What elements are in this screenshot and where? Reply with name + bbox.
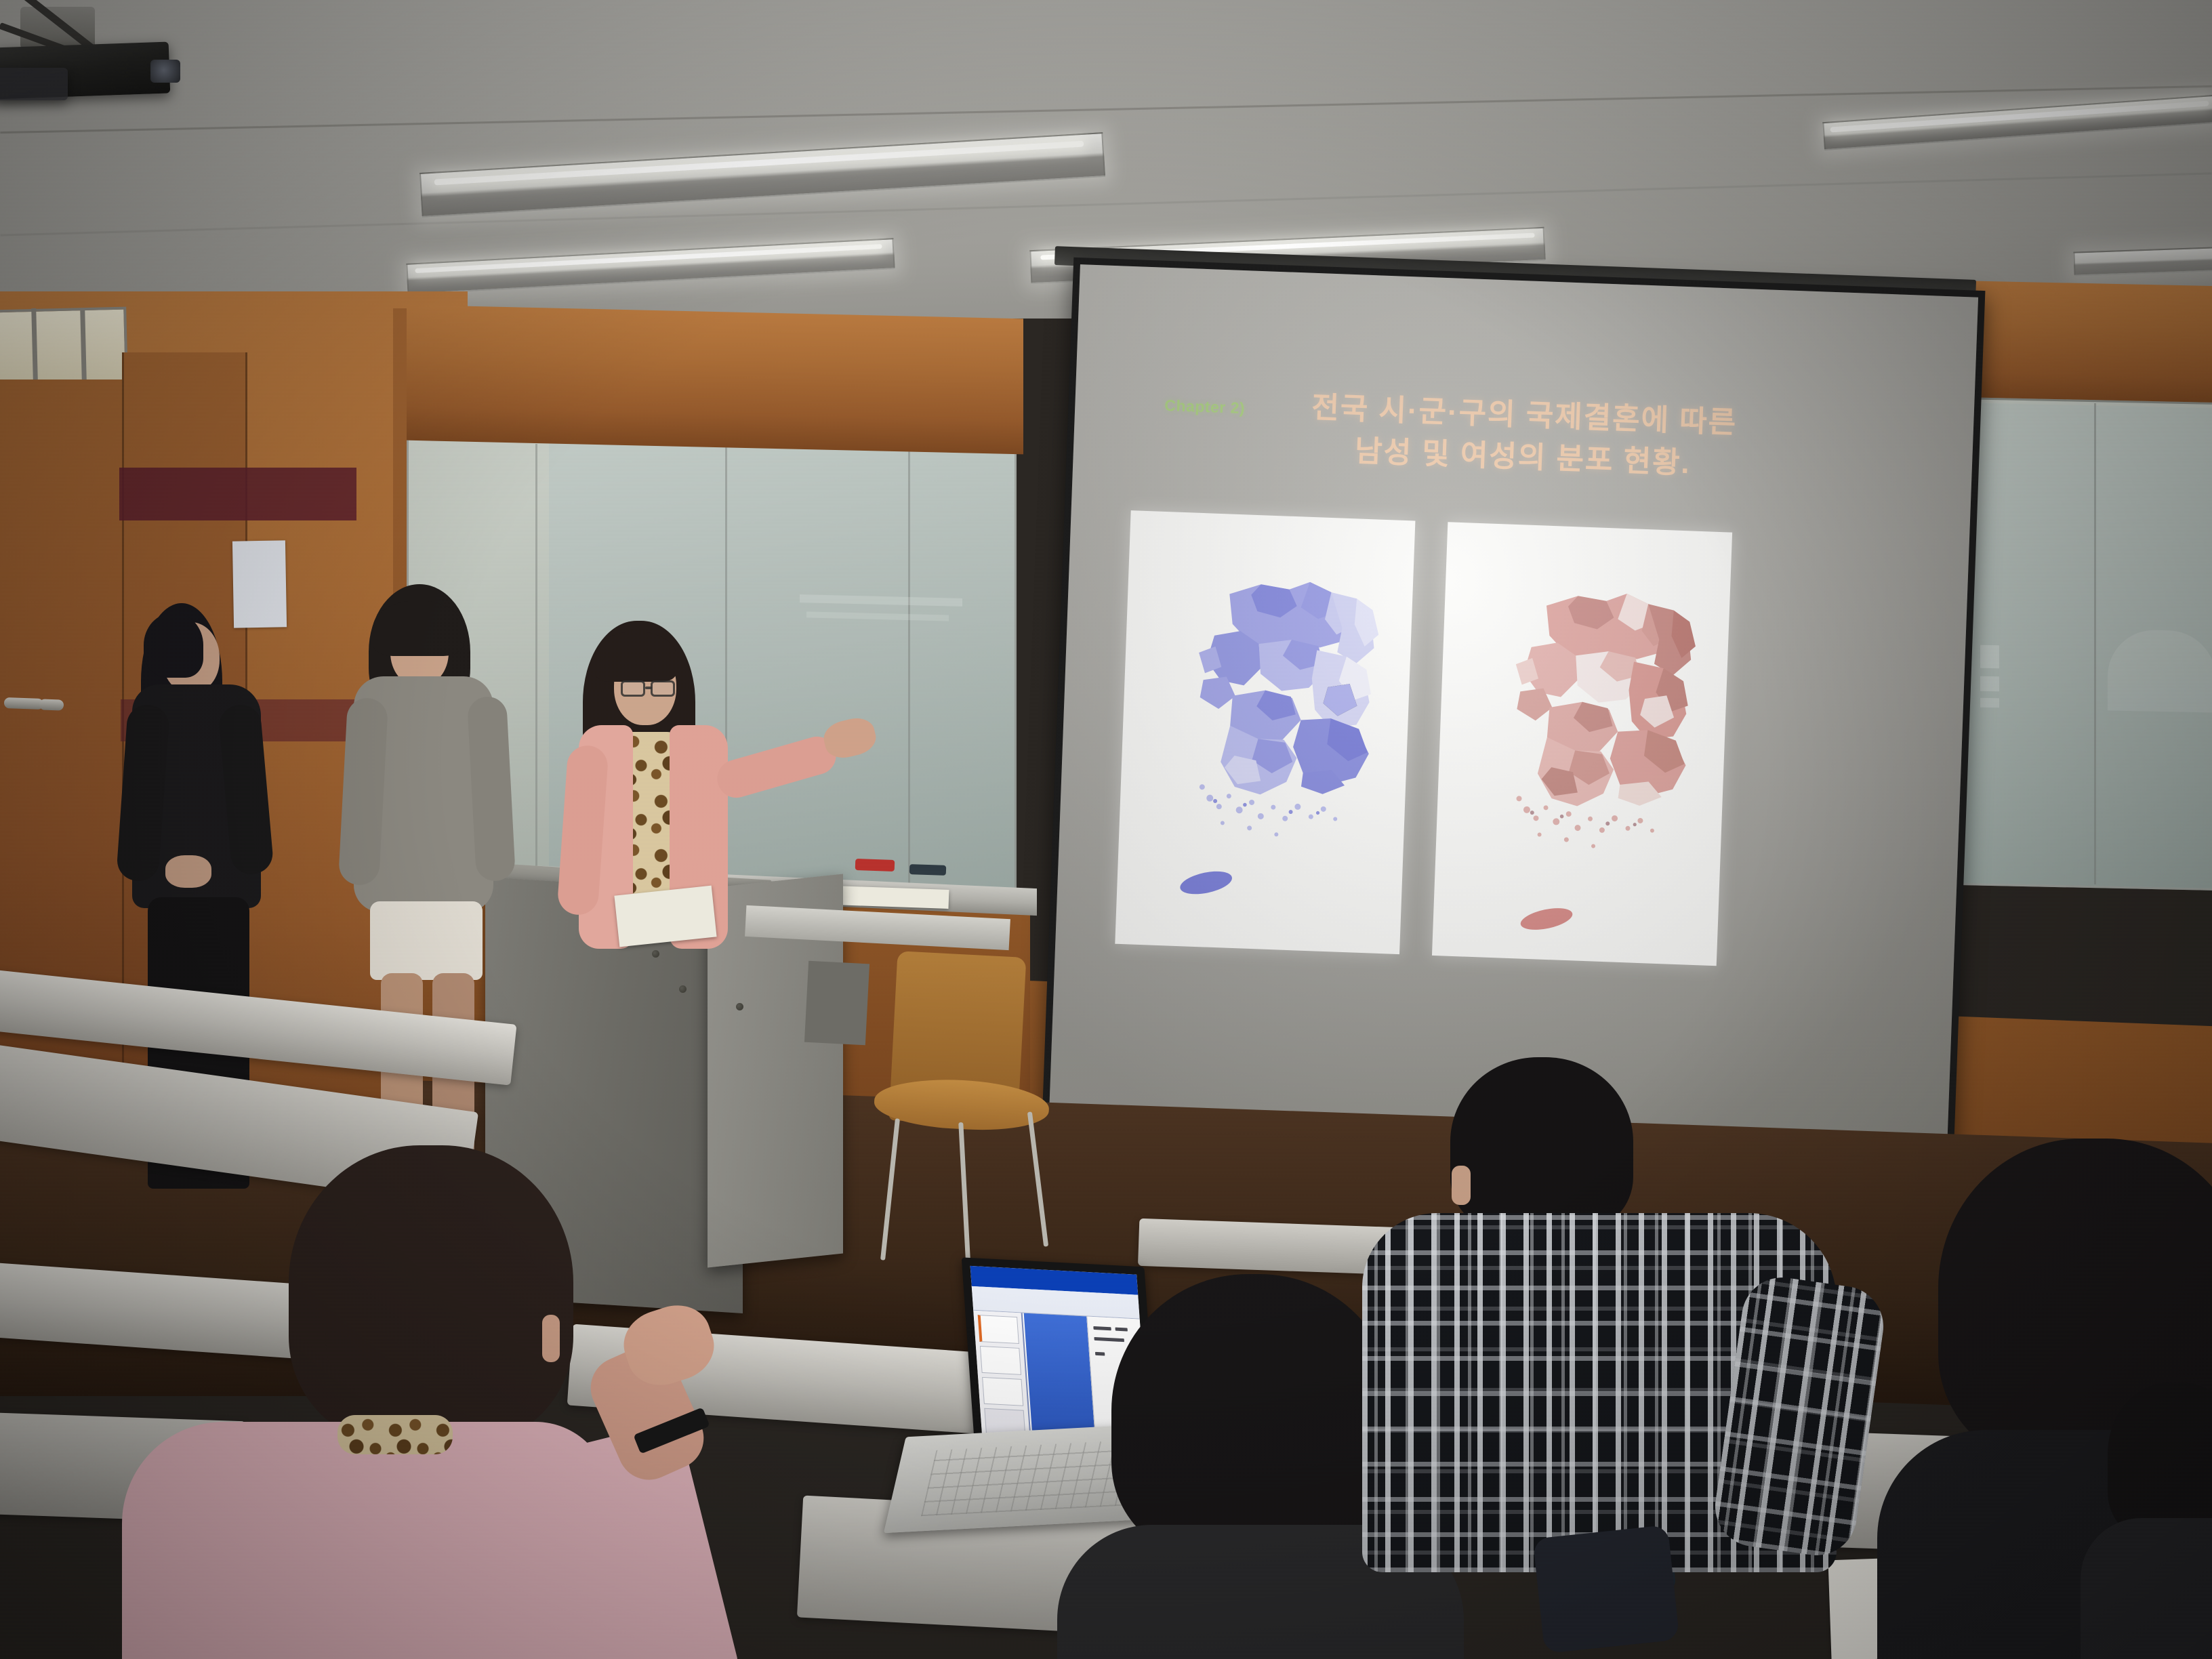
glass-reflection-silhouette [2108,629,2212,712]
student-plaid-hair [1450,1057,1633,1233]
door-handle[interactable] [4,697,44,710]
projector-body-rear [0,68,68,100]
student-pink-ear [542,1315,560,1362]
eyeglasses-bridge [645,687,652,689]
student-plaid-bag [1533,1525,1680,1654]
laptop-outline-line [1115,1328,1127,1332]
student-pink-collar [337,1415,453,1454]
eyeglasses-right-lens [651,680,675,697]
laptop-slide-thumbnail-panel[interactable] [973,1311,1031,1441]
student-far-right-hair [2108,1382,2212,1538]
presenter-speaking-fringe [595,632,676,682]
wall-wood-panel [407,305,1023,455]
map-svg-blue [1115,510,1415,954]
door-notice-paper [232,540,287,628]
laptop-slide-thumbnail[interactable] [980,1346,1021,1375]
glass-divider [535,444,537,884]
projector-lens [150,60,180,83]
glass-divider [2094,403,2096,884]
ceiling-light-fixture [2073,247,2212,276]
side-table-panel [804,961,869,1046]
glass-reflection [1980,698,1999,708]
laptop-outline-line [1093,1326,1111,1330]
podium-fastener [652,950,659,958]
map-svg-red [1432,522,1732,966]
dark-marker[interactable] [909,864,946,876]
presenter-left-fringe [144,613,203,678]
red-marker[interactable] [855,859,895,872]
laptop-slide-stage[interactable] [1024,1313,1096,1445]
female-distribution-map [1432,522,1732,966]
student-far-right-shirt [2081,1518,2212,1659]
projection-screen-frame: Chapter 2) 전국 시·군·구의 국제결혼에 따른 남성 및 여성의 분… [1042,258,1986,1174]
handout-paper[interactable] [834,886,949,909]
wall-wood-panel [1952,281,2212,408]
projection-screen-surface: Chapter 2) 전국 시·군·구의 국제결혼에 따른 남성 및 여성의 분… [1048,264,1978,1159]
laptop-outline-line [1094,1337,1124,1342]
presenter-left-hands [165,855,211,888]
podium-fastener [679,985,687,993]
student-pink-head [325,1193,542,1450]
podium-fastener [736,1003,743,1010]
presenter-handheld-papers[interactable] [614,886,716,947]
door-handle[interactable] [39,699,64,710]
lecture-hall-photo: Chapter 2) 전국 시·군·구의 국제결혼에 따른 남성 및 여성의 분… [0,0,2212,1659]
wall-accent-stripe [119,468,356,520]
laptop-slide-thumbnail[interactable] [982,1377,1023,1406]
student-center-hair [1111,1274,1396,1559]
laptop-slide-thumbnail[interactable] [978,1315,1019,1344]
presenter-center-shorts [370,901,483,980]
male-distribution-map [1115,510,1415,954]
glass-divider [908,451,910,890]
glass-reflection [1980,645,1999,669]
eyeglasses-left-lens [621,680,645,697]
glass-reflection [1980,676,1999,692]
student-plaid-ear [1452,1166,1471,1205]
projected-slide: Chapter 2) 전국 시·군·구의 국제결혼에 따른 남성 및 여성의 분… [1048,264,1978,1159]
presenter-center-fringe [373,600,464,656]
laptop-outline-line [1095,1352,1105,1356]
